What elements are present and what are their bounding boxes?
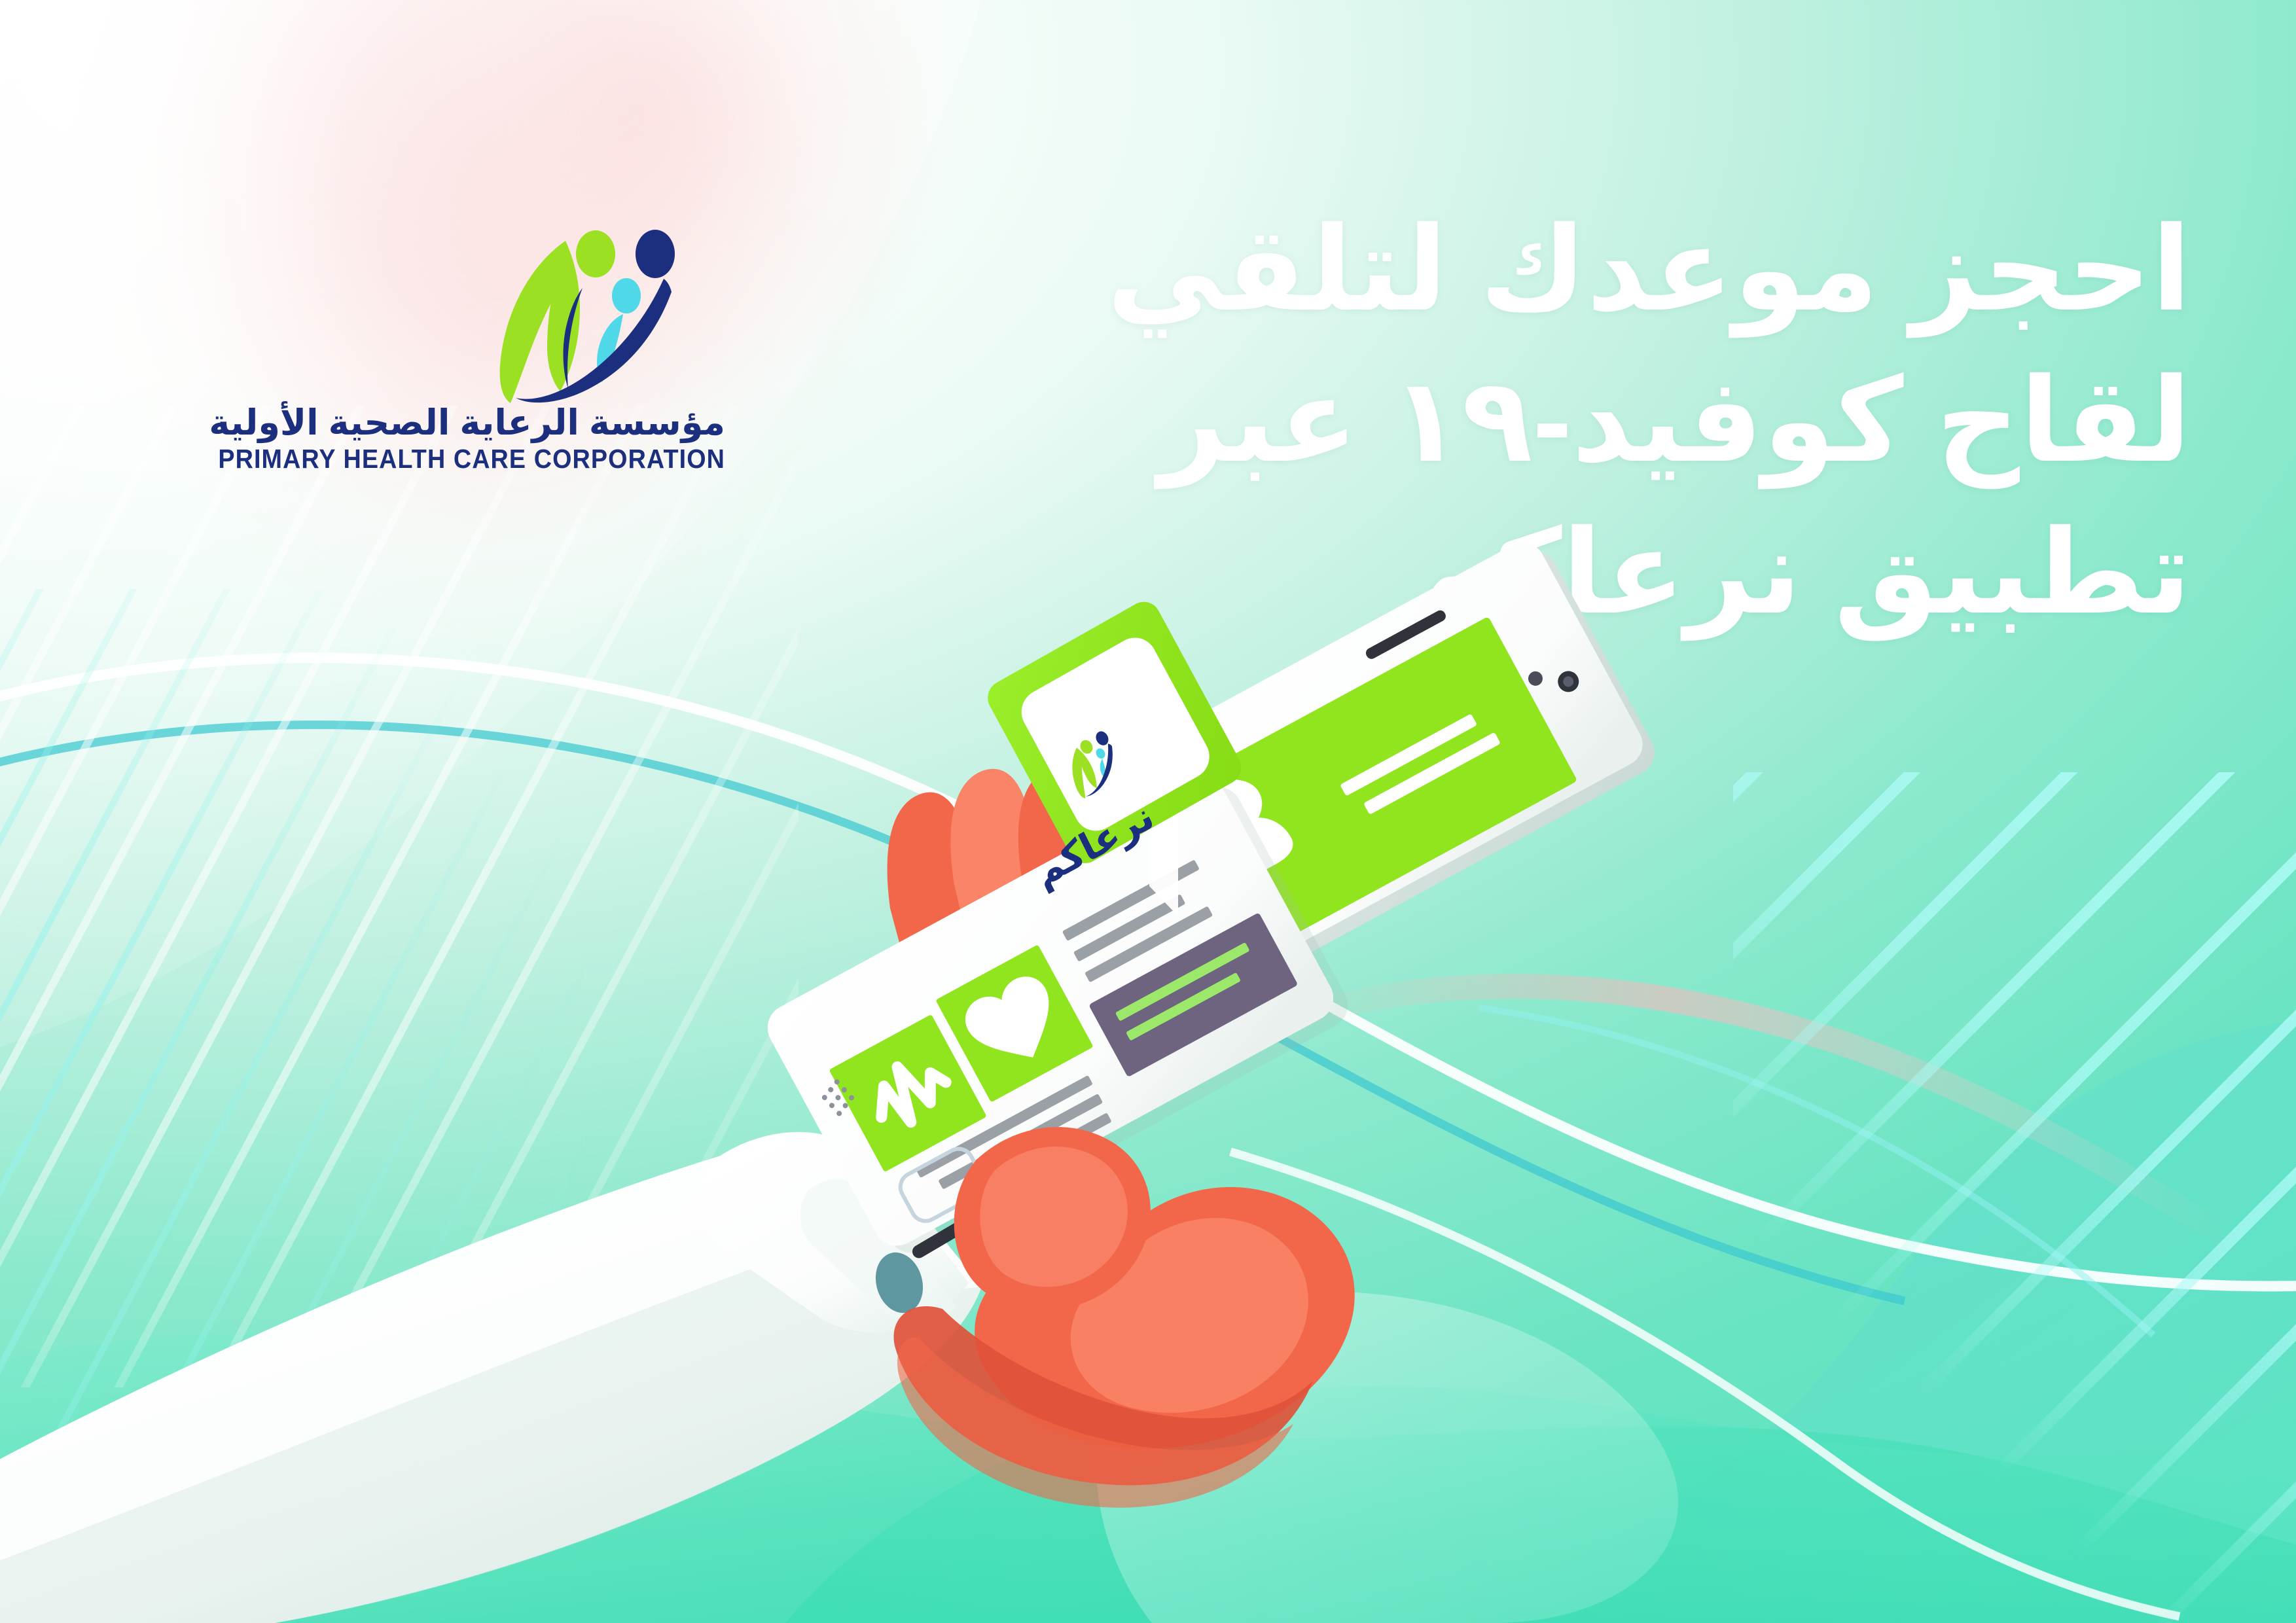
sleeve-arm	[0, 1132, 982, 1623]
poster-canvas: مؤسسة الرعاية الصحية الأولية PRIMARY HEA…	[0, 0, 2296, 1623]
